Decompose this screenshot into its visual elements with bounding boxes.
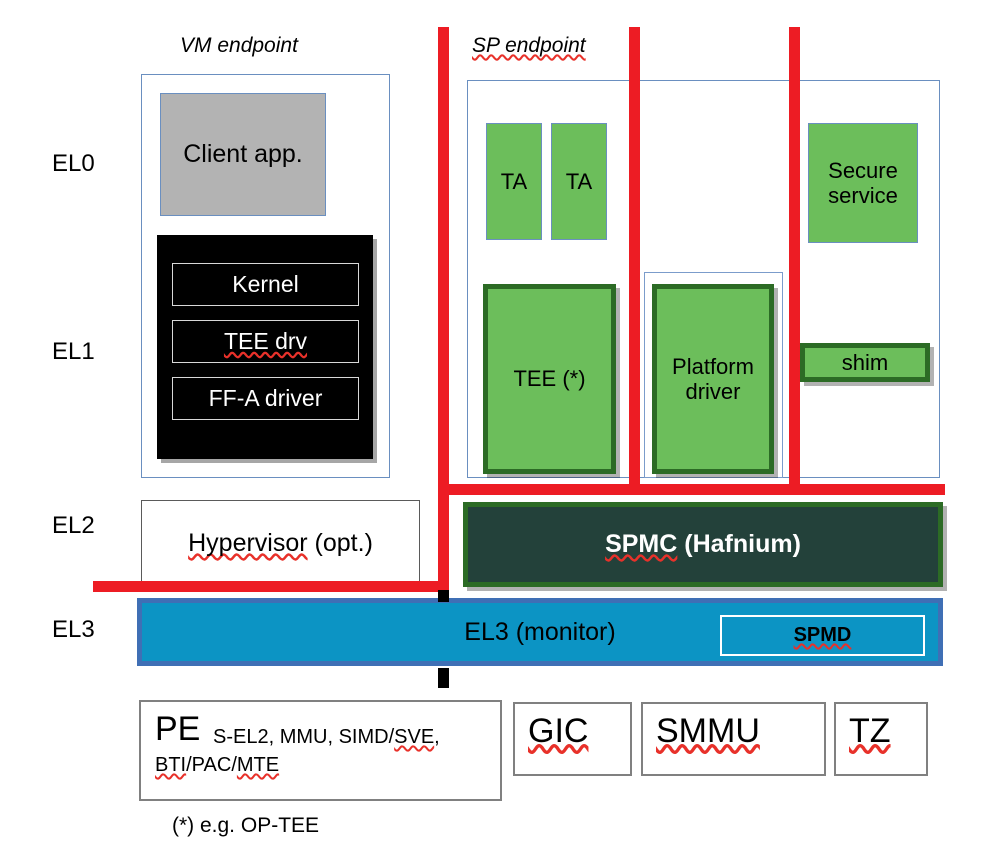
tick-mark-bottom: [438, 668, 449, 688]
sp-endpoint-caption: SP endpoint: [472, 34, 586, 58]
pe-detail-seg5: /PAC/: [186, 754, 237, 776]
pe-detail-seg4: BTI: [155, 754, 186, 776]
spmc-label: SPMC (Hafnium): [605, 530, 801, 559]
tee-box[interactable]: TEE (*): [483, 284, 616, 474]
secure-service-label-line1: Secure: [828, 158, 898, 183]
stack-item-ffa-driver[interactable]: FF-A driver: [172, 377, 359, 420]
pe-detail-seg1: S-EL2, MMU, SIMD/: [213, 726, 394, 748]
smmu-box[interactable]: SMMU: [641, 702, 826, 776]
red-boundary-line-vertical-1: [438, 27, 449, 592]
secure-service-box[interactable]: Secure service: [808, 123, 918, 243]
gic-label: GIC: [528, 712, 588, 751]
tz-box[interactable]: TZ: [834, 702, 928, 776]
gic-label-text: GIC: [528, 712, 588, 750]
tz-label: TZ: [849, 712, 891, 751]
sp-endpoint-caption-text: SP endpoint: [472, 34, 586, 57]
diagram-canvas: VM endpoint SP endpoint EL0 EL1 EL2 EL3 …: [0, 0, 997, 858]
footnote: (*) e.g. OP-TEE: [172, 814, 319, 838]
el-label-el0: EL0: [52, 150, 95, 178]
stack-item-ffa-driver-label: FF-A driver: [209, 385, 323, 411]
el3-monitor-label: EL3 (monitor): [464, 618, 615, 647]
platform-driver-label-line2: driver: [685, 379, 740, 404]
gic-box[interactable]: GIC: [513, 702, 632, 776]
pe-detail: S-EL2, MMU, SIMD/SVE,: [213, 726, 498, 749]
pe-detail-seg6: MTE: [237, 754, 279, 776]
hypervisor-box[interactable]: Hypervisor (opt.): [141, 500, 420, 587]
stack-item-kernel[interactable]: Kernel: [172, 263, 359, 306]
pe-detail-2: BTI/PAC/MTE: [155, 754, 279, 777]
el-label-el2: EL2: [52, 512, 95, 540]
pe-detail-seg3: ,: [434, 726, 440, 748]
el3-monitor-box[interactable]: EL3 (monitor) SPMD: [137, 598, 943, 666]
spmc-label-rest: (Hafnium): [677, 530, 801, 558]
el-label-el1: EL1: [52, 338, 95, 366]
ta-box-2[interactable]: TA: [551, 123, 607, 240]
shim-box[interactable]: shim: [800, 343, 930, 382]
ta-box-2-label: TA: [566, 169, 592, 194]
pe-box[interactable]: PE S-EL2, MMU, SIMD/SVE, BTI/PAC/MTE: [139, 700, 502, 801]
ta-box-1[interactable]: TA: [486, 123, 542, 240]
shim-label: shim: [842, 350, 888, 375]
spmd-label: SPMD: [794, 624, 852, 647]
vm-os-stack: Kernel TEE drv FF-A driver: [157, 235, 373, 459]
spmc-box[interactable]: SPMC (Hafnium): [463, 502, 943, 587]
smmu-label: SMMU: [656, 712, 760, 751]
red-boundary-line-vertical-2: [629, 27, 640, 495]
red-boundary-line-horizontal-bottom: [93, 581, 449, 592]
platform-driver-box[interactable]: Platform driver: [652, 284, 774, 474]
hypervisor-label-main: Hypervisor: [188, 529, 307, 557]
spmc-label-main: SPMC: [605, 530, 677, 558]
secure-service-label-line2: service: [828, 183, 898, 208]
smmu-label-text: SMMU: [656, 712, 760, 750]
stack-item-kernel-label: Kernel: [232, 271, 298, 297]
client-app-box[interactable]: Client app.: [160, 93, 326, 216]
el-label-el3: EL3: [52, 616, 95, 644]
red-boundary-line-horizontal-top: [438, 484, 945, 495]
platform-driver-label-line1: Platform: [672, 354, 754, 379]
tee-box-label: TEE (*): [513, 366, 585, 391]
spmd-box[interactable]: SPMD: [720, 615, 925, 656]
pe-detail-seg2: SVE: [394, 726, 434, 748]
ta-box-1-label: TA: [501, 169, 527, 194]
vm-endpoint-caption: VM endpoint: [180, 34, 298, 58]
red-boundary-line-vertical-3: [789, 27, 800, 495]
stack-item-tee-drv-label: TEE drv: [224, 328, 307, 354]
hypervisor-label-rest: (opt.): [308, 529, 373, 557]
stack-item-tee-drv[interactable]: TEE drv: [172, 320, 359, 363]
tz-label-text: TZ: [849, 712, 891, 750]
hypervisor-label: Hypervisor (opt.): [188, 529, 373, 558]
tick-mark-top: [438, 590, 449, 602]
pe-title: PE: [155, 710, 200, 749]
client-app-label: Client app.: [183, 140, 303, 169]
